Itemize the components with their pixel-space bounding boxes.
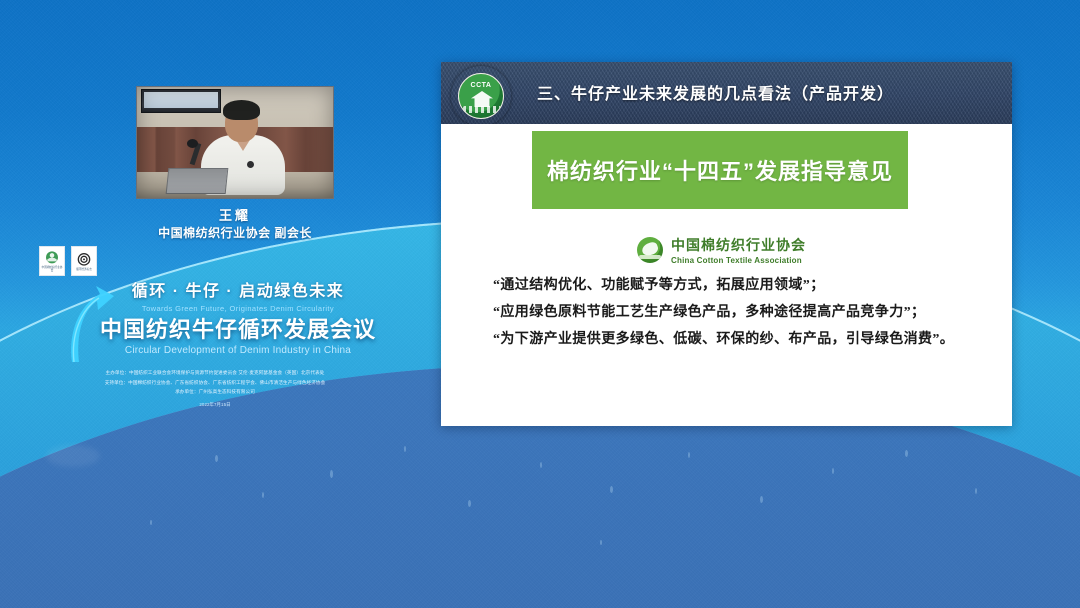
fineprint-line-host: 承办单位：广州弘高生态科技有限公司 [60, 387, 370, 397]
event-date: 2022年7月15日 [60, 400, 370, 410]
circular-economy-glyph [76, 252, 92, 268]
association-name-en: China Cotton Textile Association [671, 256, 806, 265]
ccta-small-logo-caption: 中国棉纺织行业协会 [41, 266, 63, 272]
fineprint-line-supporters: 支持单位：中国棉纺织行业协会、广东省纺织协会、广东省纺织工程学会、佛山市清洁生产… [60, 378, 370, 388]
organizer-logo-group: 中国棉纺织行业协会 循环经济标志 [39, 246, 97, 276]
ccta-seal-emblem [471, 91, 493, 107]
slide-bullet-1: “通过结构优化、功能赋予等方式，拓展应用领域”； [493, 272, 973, 299]
ccta-seal-logo: CCTA [451, 66, 511, 126]
cotton-association-glyph [44, 250, 60, 266]
event-title-en: Circular Development of Denim Industry i… [88, 344, 388, 357]
event-title-group: 循环 · 牛仔 · 启动绿色未来 Towards Green Future, O… [88, 282, 388, 357]
ccta-seal-band [463, 106, 501, 113]
live-video-feed[interactable] [136, 86, 334, 199]
slide-header-bar: CCTA 三、牛仔产业未来发展的几点看法（产品开发） [441, 62, 1012, 124]
slide-bullet-list: “通过结构优化、功能赋予等方式，拓展应用领域”； “应用绿色原料节能工艺生产绿色… [493, 272, 973, 353]
slide-bullet-2: “应用绿色原料节能工艺生产绿色产品，多种途径提高产品竞争力”； [493, 299, 973, 326]
ccta-small-logo: 中国棉纺织行业协会 [39, 246, 65, 276]
slide-green-banner-text: 棉纺织行业“十四五”发展指导意见 [547, 154, 893, 186]
event-slogan-en: Towards Green Future, Originates Denim C… [88, 303, 388, 314]
slide-body: 棉纺织行业“十四五”发展指导意见 中国棉纺织行业协会 China Cotton … [441, 124, 1012, 426]
slide-green-banner: 棉纺织行业“十四五”发展指导意见 [532, 131, 908, 209]
ccta-seal-inner: CCTA [458, 73, 504, 119]
slide-bullet-3: “为下游产业提供更多绿色、低碳、环保的纱、布产品，引导绿色消费”。 [493, 326, 973, 353]
speaker-name: 王耀 [100, 207, 370, 224]
association-logo-icon [637, 237, 663, 263]
association-name-cn: 中国棉纺织行业协会 [671, 235, 806, 255]
association-logo-row: 中国棉纺织行业协会 China Cotton Textile Associati… [637, 235, 806, 265]
fineprint-line-organizer: 主办单位：中国纺织工业联合会环境保护与资源节约促进委员会 艾伦·麦克阿瑟基金会（… [60, 368, 370, 378]
speaker-caption: 王耀 中国棉纺织行业协会 副会长 [100, 207, 370, 242]
slide-header-title: 三、牛仔产业未来发展的几点看法（产品开发） [537, 80, 894, 104]
event-slogan-cn: 循环 · 牛仔 · 启动绿色未来 [88, 282, 388, 302]
event-fineprint: 主办单位：中国纺织工业联合会环境保护与资源节约促进委员会 艾伦·麦克阿瑟基金会（… [60, 368, 370, 409]
partner-small-logo: 循环经济标志 [71, 246, 97, 276]
event-branding-block: 中国棉纺织行业协会 循环经济标志 循环 · 牛仔 · 启动绿色未来 Toward… [30, 240, 390, 425]
event-title-cn: 中国纺织牛仔循环发展会议 [88, 316, 388, 344]
partner-small-logo-caption: 循环经济标志 [76, 268, 92, 271]
association-logo-text: 中国棉纺织行业协会 China Cotton Textile Associati… [671, 235, 806, 265]
association-logo-band [639, 255, 661, 259]
background-reflection [46, 445, 100, 467]
ccta-seal-text: CCTA [459, 82, 503, 89]
presentation-slide[interactable]: CCTA 三、牛仔产业未来发展的几点看法（产品开发） 棉纺织行业“十四五”发展指… [441, 62, 1012, 426]
video-vignette [137, 87, 333, 198]
